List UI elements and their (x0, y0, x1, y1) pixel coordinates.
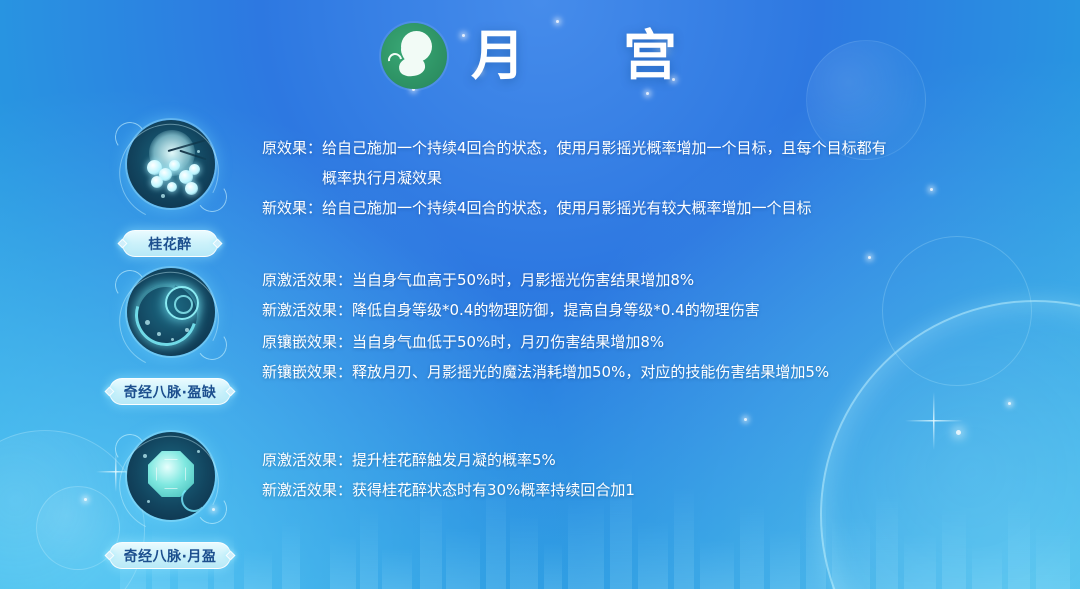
line-body: 给自己施加一个持续4回合的状态，使用月影摇光概率增加一个目标，且每个目标都有 (322, 140, 887, 157)
line-body: 释放月刃、月影摇光的魔法消耗增加50%，对应的技能伤害结果增加5% (352, 364, 829, 381)
sparkle-dot (147, 500, 150, 503)
skill-section-2: 奇经八脉·盈缺 原激活效果： 当自身气血高于50%时，月影摇光伤害结果增加8% … (96, 268, 1056, 405)
crescent-shape (127, 273, 208, 356)
osmanthus-moon-orb-icon[interactable] (127, 120, 215, 208)
description-line: 新镶嵌效果： 释放月刃、月影摇光的魔法消耗增加50%，对应的技能伤害结果增加5% (262, 364, 1056, 381)
diamond-ornament-icon (118, 239, 128, 249)
blossom-shape (189, 164, 200, 175)
badge-label: 奇经八脉·盈缺 (124, 382, 217, 402)
line-body: 提升桂花醉触发月凝的概率5% (352, 452, 556, 469)
description-line: 原激活效果： 当自身气血高于50%时，月影摇光伤害结果增加8% (262, 272, 1056, 289)
description-line: 新效果： 给自己施加一个持续4回合的状态，使用月影摇光有较大概率增加一个目标 (262, 200, 1056, 217)
sparkle-dot (145, 320, 150, 325)
orb-wrapper[interactable] (111, 268, 229, 372)
line-lead: 新激活效果： (262, 482, 352, 499)
description-line: 新激活效果： 获得桂花醉状态时有30%概率持续回合加1 (262, 482, 1056, 499)
diamond-ornament-icon (226, 551, 236, 561)
crescent-flower-orb-icon[interactable] (127, 268, 215, 356)
line-lead: 新效果： (262, 200, 322, 217)
skill-icon-column: 奇经八脉·月盈 (96, 432, 244, 569)
line-body: 当自身气血低于50%时，月刃伤害结果增加8% (352, 334, 664, 351)
line-lead: 原激活效果： (262, 452, 352, 469)
sparkle-dot (197, 150, 200, 153)
moon-palace-skill-panel: 月 宫 (0, 0, 1080, 589)
description-line: 原激活效果： 提升桂花醉触发月凝的概率5% (262, 452, 1056, 469)
line-body: 降低自身等级*0.4的物理防御，提高自身等级*0.4的物理伤害 (352, 302, 760, 319)
sparkle-dot (143, 454, 147, 458)
skill-description-3: 原激活效果： 提升桂花醉触发月凝的概率5% 新激活效果： 获得桂花醉状态时有30… (244, 432, 1056, 499)
gem-facet-shape (156, 459, 186, 489)
jade-gem-orb-icon[interactable] (127, 432, 215, 520)
orb-wrapper[interactable] (111, 120, 229, 224)
description-line: 原镶嵌效果： 当自身气血低于50%时，月刃伤害结果增加8% (262, 334, 1056, 351)
line-lead: 新镶嵌效果： (262, 364, 352, 381)
moon-rabbit-icon (381, 23, 447, 89)
sparkle-dot (171, 338, 174, 341)
badge-label: 桂花醉 (148, 234, 192, 254)
description-line: 新激活效果： 降低自身等级*0.4的物理防御，提高自身等级*0.4的物理伤害 (262, 302, 1056, 319)
sparkle-dot (157, 332, 161, 336)
line-body: 概率执行月凝效果 (322, 170, 442, 187)
blossom-shape (167, 182, 177, 192)
orb-wrapper[interactable] (111, 432, 229, 536)
diamond-ornament-icon (213, 239, 223, 249)
badge-奇经八脉-月盈[interactable]: 奇经八脉·月盈 (109, 542, 232, 569)
blossom-shape (185, 182, 198, 195)
line-body: 获得桂花醉状态时有30%概率持续回合加1 (352, 482, 635, 499)
blossom-shape (169, 160, 180, 171)
line-body: 给自己施加一个持续4回合的状态，使用月影摇光有较大概率增加一个目标 (322, 200, 812, 217)
line-lead: 原效果： (262, 140, 322, 157)
skill-description-1: 原效果： 给自己施加一个持续4回合的状态，使用月影摇光概率增加一个目标，且每个目… (244, 120, 1056, 217)
skill-icon-column: 桂花醉 (96, 120, 244, 257)
description-line: 原效果： 给自己施加一个持续4回合的状态，使用月影摇光概率增加一个目标，且每个目… (262, 140, 1056, 157)
skill-section-3: 奇经八脉·月盈 原激活效果： 提升桂花醉触发月凝的概率5% 新激活效果： 获得桂… (96, 432, 1056, 569)
sparkle-dot (197, 450, 200, 453)
blossom-shape (151, 176, 163, 188)
line-lead: 新激活效果： (262, 302, 352, 319)
description-line: 概率执行月凝效果 (262, 170, 1056, 187)
badge-桂花醉[interactable]: 桂花醉 (122, 230, 218, 257)
line-lead: 原激活效果： (262, 272, 352, 289)
vine-swirl-shape (181, 486, 207, 512)
skill-icon-column: 奇经八脉·盈缺 (96, 268, 244, 405)
diamond-ornament-icon (104, 387, 114, 397)
page-header: 月 宫 (0, 10, 1080, 102)
skill-section-1: 桂花醉 原效果： 给自己施加一个持续4回合的状态，使用月影摇光概率增加一个目标，… (96, 120, 1056, 257)
diamond-ornament-icon (226, 387, 236, 397)
line-lead: 原镶嵌效果： (262, 334, 352, 351)
skill-description-2: 原激活效果： 当自身气血高于50%时，月影摇光伤害结果增加8% 新激活效果： 降… (244, 268, 1056, 381)
badge-奇经八脉-盈缺[interactable]: 奇经八脉·盈缺 (109, 378, 232, 405)
sparkle-dot (185, 328, 189, 332)
sparkle-dot (161, 194, 165, 198)
line-body: 当自身气血高于50%时，月影摇光伤害结果增加8% (352, 272, 694, 289)
diamond-ornament-icon (104, 551, 114, 561)
badge-label: 奇经八脉·月盈 (124, 546, 217, 566)
page-title: 月 宫 (463, 29, 699, 83)
flower-shape (165, 286, 199, 320)
